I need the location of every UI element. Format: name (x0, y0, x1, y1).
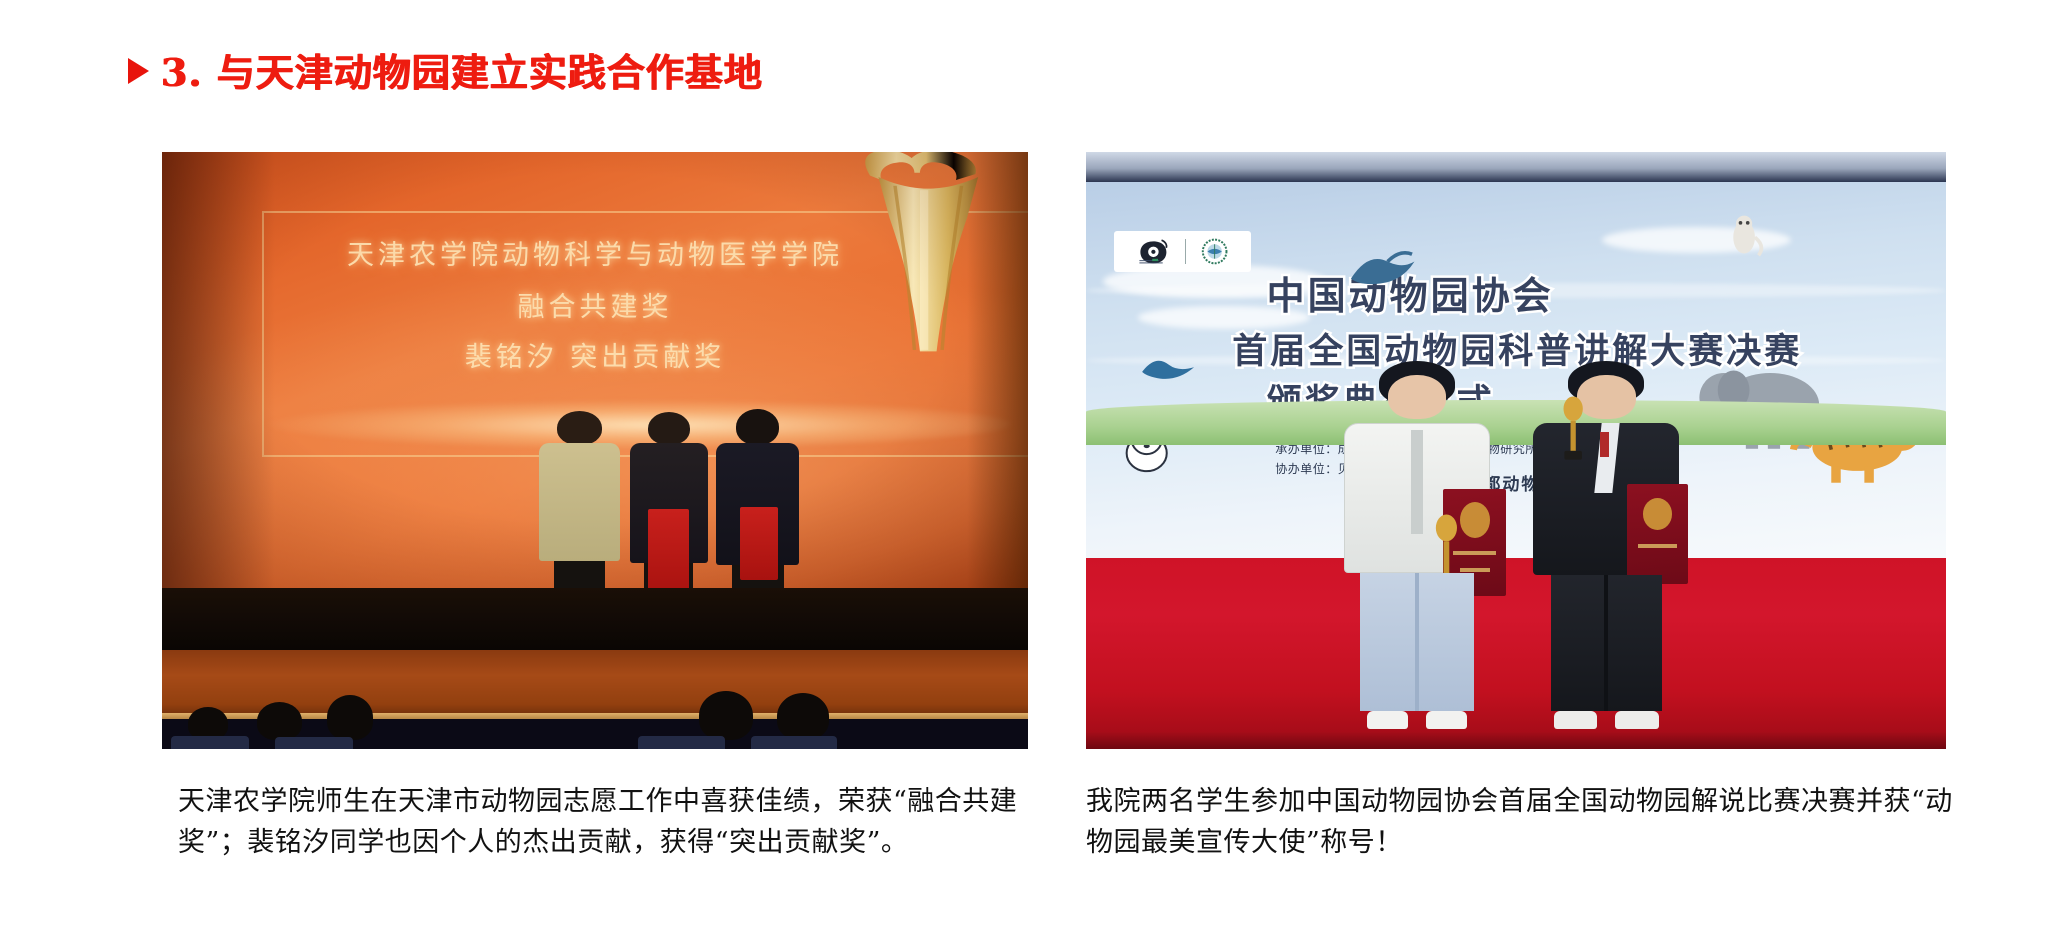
zoo-globe-logo-icon (1194, 237, 1235, 266)
sneaker (1426, 711, 1467, 729)
panda-logo-icon (1130, 239, 1177, 265)
award-certificate-right (1627, 484, 1688, 584)
red-carpet (1086, 558, 1946, 749)
audience-head (777, 693, 829, 740)
event-backdrop-banner: 中国动物园协会 首届全国动物园科普讲解大赛决赛 颁奖典礼仪式 主办单位：中国动物… (1086, 182, 1946, 558)
dark-suit (1533, 423, 1679, 575)
caption-right-text: 我院两名学生参加中国动物园协会首届全国动物园解说比赛决赛并获“动物园最美宣传大使… (1086, 782, 1966, 863)
photo-left: 天津农学院动物科学与动物医学学院 融合共建奖 裴铭汐 突出贡献奖 (162, 152, 1028, 749)
logo-divider (1185, 239, 1186, 264)
crane-illustration (1344, 242, 1421, 291)
caption-left-text: 天津农学院师生在天津市动物园志愿工作中喜获佳绩，荣获“融合共建奖”；裴铭汐同学也… (178, 782, 1038, 863)
audience-head (327, 695, 374, 740)
auditorium-seat (751, 736, 838, 749)
venue-ceiling (1086, 152, 1946, 182)
auditorium-seat (171, 736, 249, 749)
slide-root: 3. 与天津动物园建立实践合作基地 天津农学院动物科学与动物医学学院 融合共建奖… (0, 0, 2048, 944)
auditorium-seat (275, 737, 353, 749)
slide-title-row: 3. 与天津动物园建立实践合作基地 (128, 42, 763, 97)
audience-head (699, 691, 753, 740)
caption-left: 天津农学院师生在天津市动物园志愿工作中喜获佳绩，荣获“融合共建奖”；裴铭汐同学也… (178, 782, 1038, 863)
carpet-front-edge (1086, 732, 1946, 749)
student-left (1344, 361, 1490, 731)
light-jeans-left (1360, 573, 1474, 711)
page-title: 3. 与天津动物园建立实践合作基地 (161, 42, 763, 97)
stage-dark-backdrop (162, 588, 1028, 651)
auditorium-seat (638, 736, 725, 749)
caption-right: 我院两名学生参加中国动物园协会首届全国动物园解说比赛决赛并获“动物园最美宣传大使… (1086, 782, 1966, 863)
red-certificate-2 (740, 507, 778, 580)
student-right (1533, 361, 1679, 731)
grass-ground-graphic (1086, 400, 1946, 445)
sneaker (1615, 711, 1659, 729)
sneaker (1554, 711, 1598, 729)
triangle-bullet-icon (128, 58, 149, 84)
audience-head (257, 702, 302, 740)
sneaker (1367, 711, 1408, 729)
photo-right: 中国动物园协会 首届全国动物园科普讲解大赛决赛 颁奖典礼仪式 主办单位：中国动物… (1086, 152, 1946, 749)
red-certificate-1 (648, 509, 689, 595)
bird-illustration (1138, 347, 1198, 381)
face (1388, 375, 1446, 419)
white-jacket (1344, 423, 1490, 573)
dark-trousers-right (1551, 575, 1662, 711)
trophy-right (1560, 381, 1586, 487)
sponsor-logo-box (1114, 231, 1252, 272)
monkey-illustration (1714, 212, 1774, 257)
